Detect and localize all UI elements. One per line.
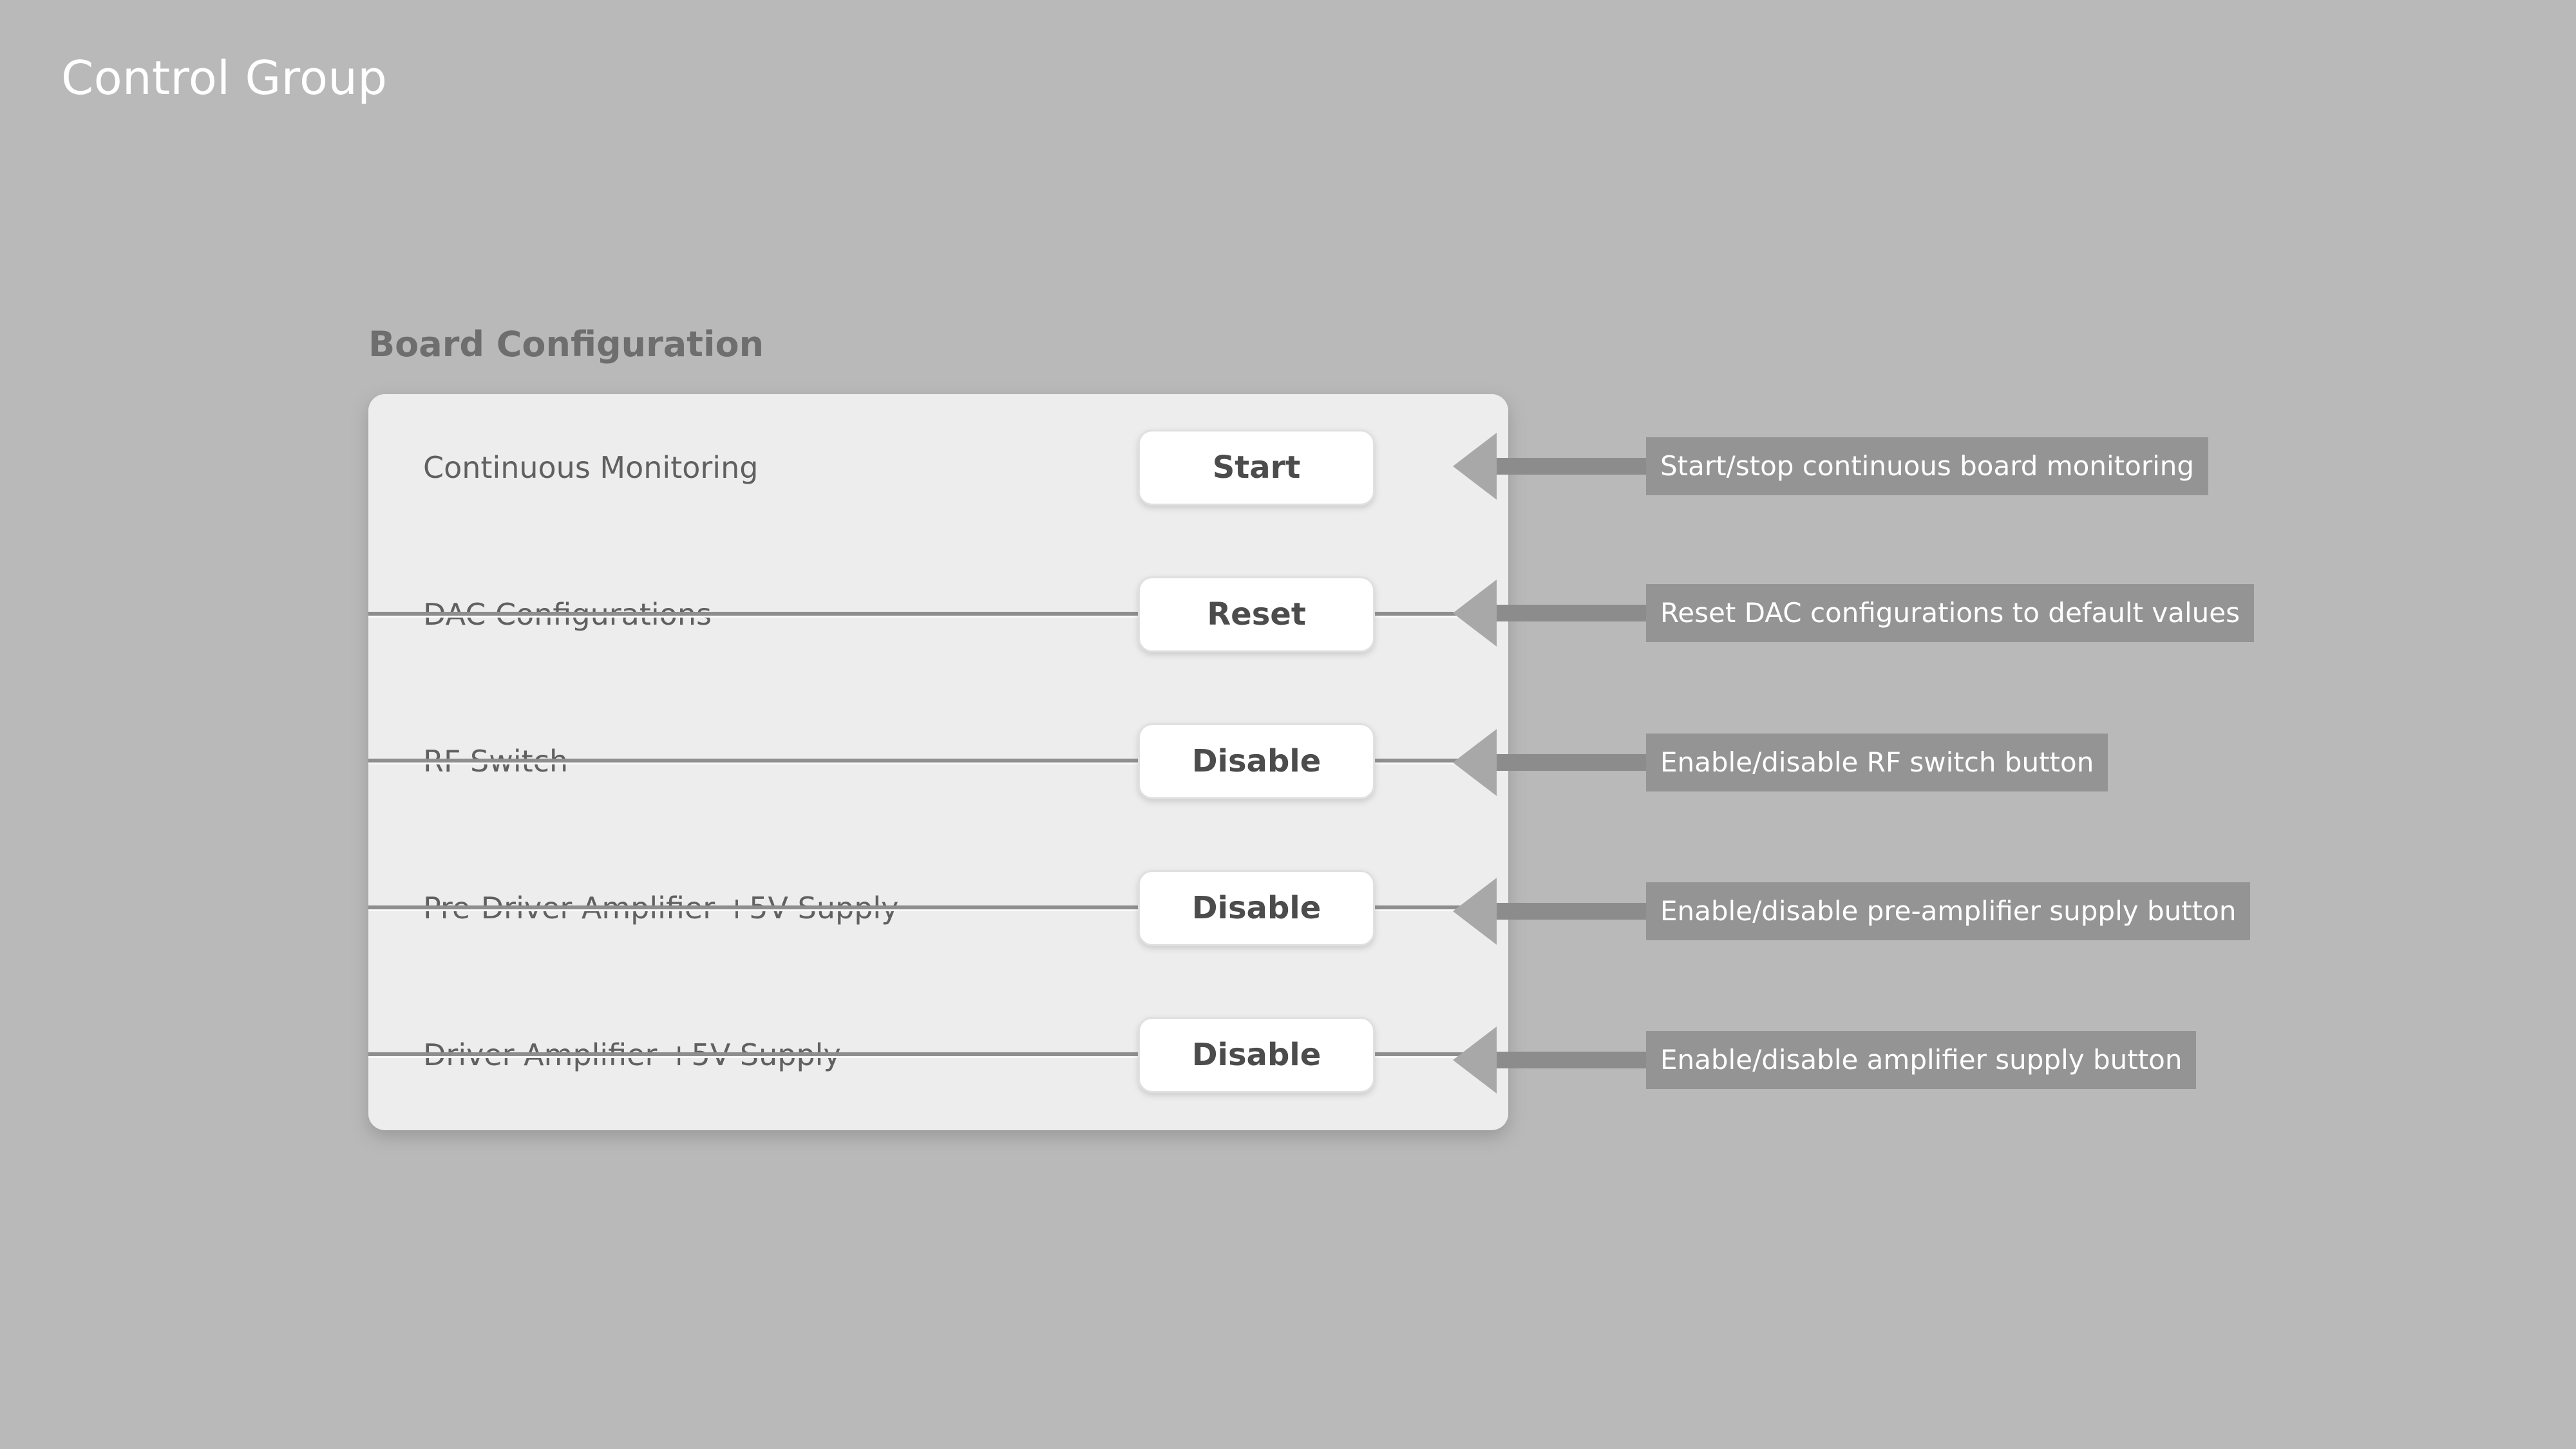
screen-root: Control Group Board Configuration Contin… [0,0,2576,1449]
callout-shaft [1497,605,1646,621]
callout-text-box: Enable/disable RF switch button [1646,734,2108,791]
dac-configurations-button[interactable]: Reset [1138,576,1375,652]
callout-shaft [1497,1052,1646,1068]
callout-text-box: Enable/disable pre-amplifier supply butt… [1646,882,2250,940]
config-row-rf-switch: RF Switch Disable [368,688,1508,835]
arrow-left-icon [1453,433,1497,500]
row-action-container: Reset [1138,576,1375,652]
arrow-left-icon [1453,729,1497,796]
config-row-pre-driver-amplifier-supply: Pre-Driver Amplifier +5V Supply Disable [368,835,1508,981]
arrow-left-icon [1453,878,1497,945]
row-action-container: Disable [1138,1017,1375,1093]
driver-amplifier-supply-button[interactable]: Disable [1138,1017,1375,1093]
arrow-left-icon [1453,1027,1497,1094]
callout-shaft [1497,458,1646,475]
row-action-container: Start [1138,430,1375,506]
row-action-container: Disable [1138,723,1375,799]
config-row-dac-configurations: DAC Configurations Reset [368,541,1508,688]
row-label: Continuous Monitoring [423,450,758,485]
callout-text-box: Reset DAC configurations to default valu… [1646,584,2254,642]
callout-text-box: Start/stop continuous board monitoring [1646,437,2208,495]
page-title: Control Group [61,55,387,101]
config-row-continuous-monitoring: Continuous Monitoring Start [368,394,1508,541]
continuous-monitoring-button[interactable]: Start [1138,430,1375,506]
pre-driver-amplifier-supply-button[interactable]: Disable [1138,870,1375,946]
callout-shaft [1497,903,1646,920]
config-row-driver-amplifier-supply: Driver Amplifier +5V Supply Disable [368,981,1508,1128]
arrow-left-icon [1453,580,1497,647]
board-configuration-card: Continuous Monitoring Start DAC Configur… [368,394,1508,1130]
callout-text-box: Enable/disable amplifier supply button [1646,1031,2196,1089]
callout-shaft [1497,754,1646,771]
rf-switch-button[interactable]: Disable [1138,723,1375,799]
row-action-container: Disable [1138,870,1375,946]
section-heading: Board Configuration [368,327,764,362]
